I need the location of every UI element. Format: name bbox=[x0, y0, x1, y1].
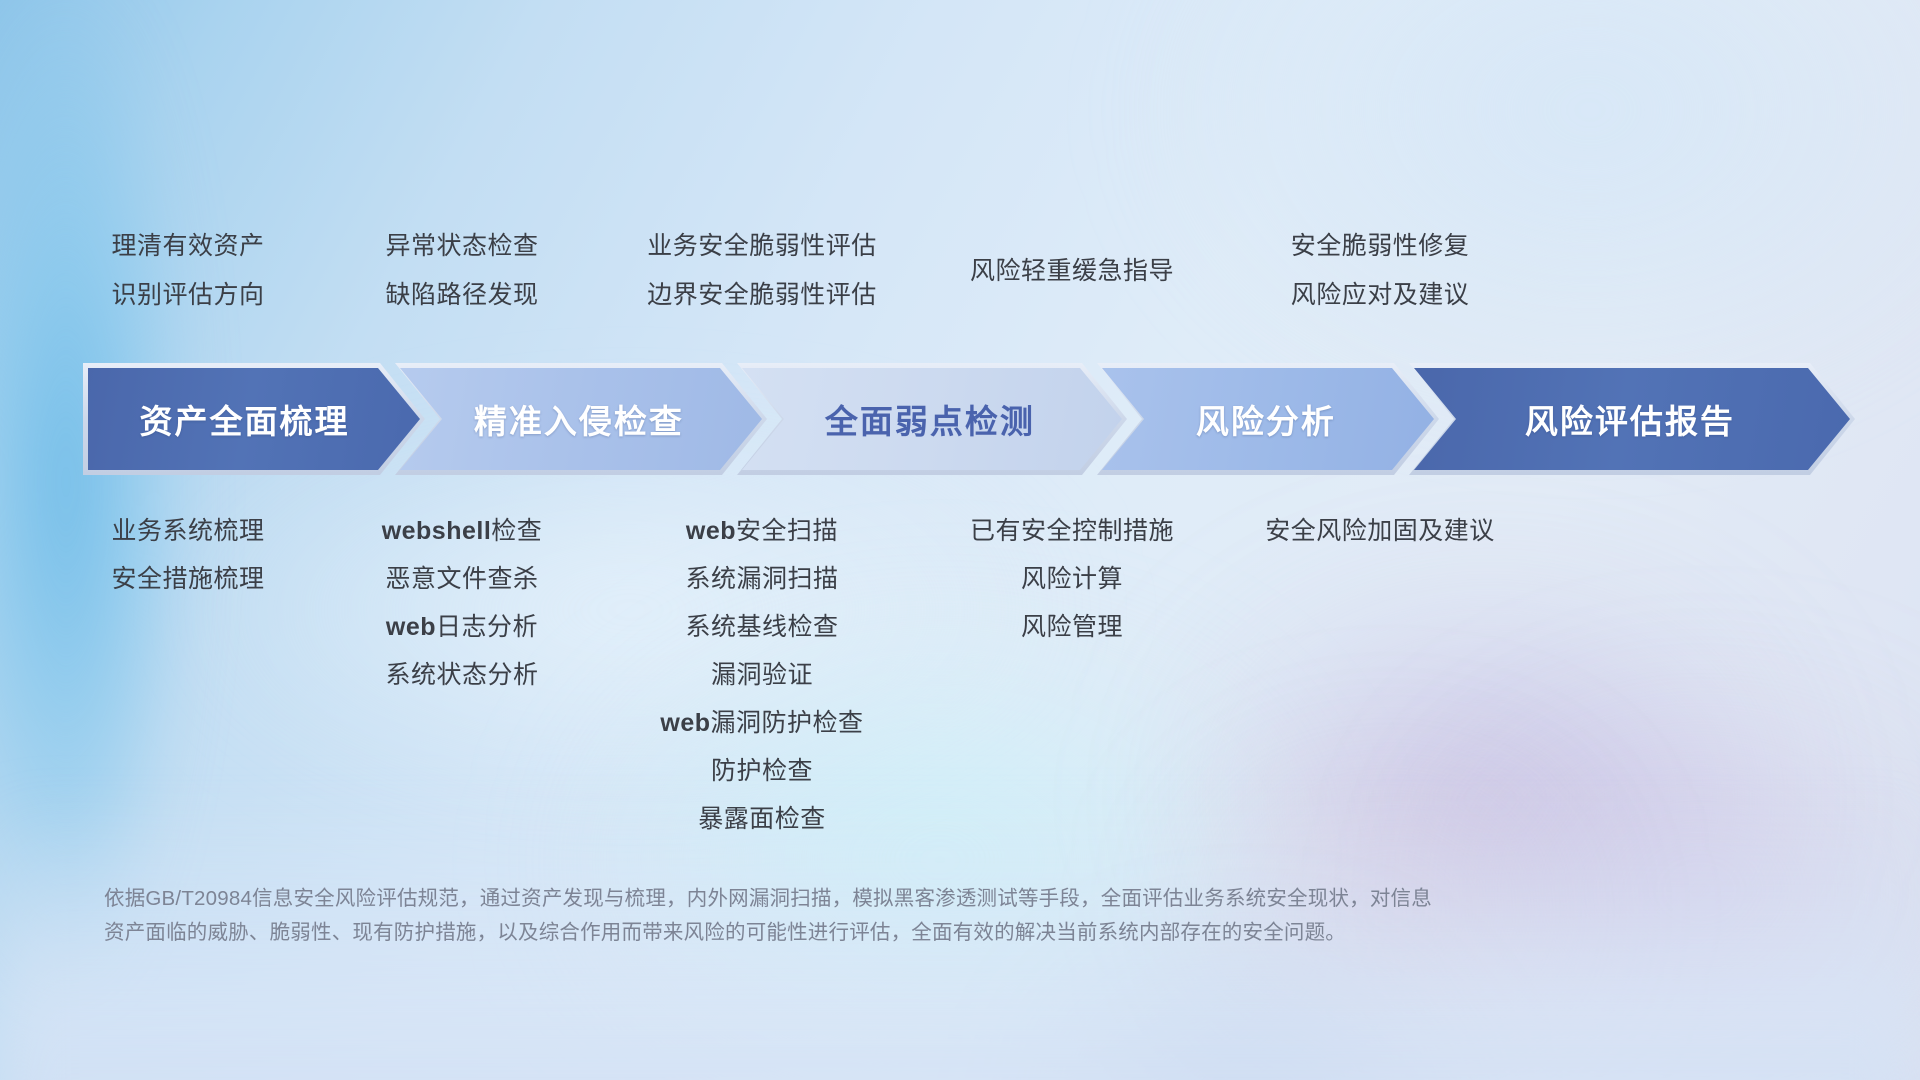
bottom-item: 暴露面检查 bbox=[502, 807, 1022, 832]
footer-description: 依据GB/T20984信息安全风险评估规范，通过资产发现与梳理，内外网漏洞扫描，… bbox=[104, 882, 1664, 950]
chevron-label-risk-report: 风险评估报告 bbox=[1525, 395, 1735, 443]
bottom-items-risk-report: 安全风险加固及建议 bbox=[1120, 519, 1640, 544]
footer-line-1: 依据GB/T20984信息安全风险评估规范，通过资产发现与梳理，内外网漏洞扫描，… bbox=[104, 882, 1664, 916]
bottom-item-text: 漏洞防护检查 bbox=[711, 709, 864, 737]
chevron-segment-fill-risk-report[interactable]: 风险评估报告 bbox=[1414, 368, 1850, 470]
chevron-label-risk-analysis: 风险分析 bbox=[1196, 395, 1336, 443]
bottom-item: 安全风险加固及建议 bbox=[1120, 519, 1640, 544]
chevron-label-weakness-detection: 全面弱点检测 bbox=[825, 395, 1035, 443]
chevron-label-intrusion-check: 精准入侵检查 bbox=[474, 395, 684, 443]
bottom-item-prefix: webshell bbox=[382, 517, 492, 545]
bottom-item-prefix: web bbox=[386, 613, 436, 641]
chevron-segment-fill-weakness-detection[interactable]: 全面弱点检测 bbox=[742, 368, 1122, 470]
bottom-item: web漏洞防护检查 bbox=[502, 711, 1022, 736]
footer-line-2: 资产面临的威胁、脆弱性、现有防护措施，以及综合作用而带来风险的可能性进行评估，全… bbox=[104, 916, 1664, 950]
bottom-item: 风险管理 bbox=[812, 615, 1332, 640]
top-item: 风险应对及建议 bbox=[1120, 283, 1640, 308]
chevron-segment-fill-asset-inventory[interactable]: 资产全面梳理 bbox=[88, 368, 420, 470]
process-diagram: 理清有效资产识别评估方向异常状态检查缺陷路径发现业务安全脆弱性评估边界安全脆弱性… bbox=[0, 0, 1920, 1080]
top-items-risk-report: 安全脆弱性修复风险应对及建议 bbox=[1120, 234, 1640, 308]
chevron-segment-fill-intrusion-check[interactable]: 精准入侵检查 bbox=[400, 368, 762, 470]
bottom-item: 防护检查 bbox=[502, 759, 1022, 784]
bottom-item: 风险计算 bbox=[812, 567, 1332, 592]
bottom-item: 漏洞验证 bbox=[502, 663, 1022, 688]
chevron-label-asset-inventory: 资产全面梳理 bbox=[140, 395, 350, 443]
chevron-segment-fill-risk-analysis[interactable]: 风险分析 bbox=[1102, 368, 1434, 470]
top-item: 边界安全脆弱性评估 bbox=[502, 283, 1022, 308]
top-item: 业务安全脆弱性评估 bbox=[502, 234, 1022, 259]
bottom-item-prefix: web bbox=[686, 517, 736, 545]
bottom-item-prefix: web bbox=[660, 709, 710, 737]
top-item: 安全脆弱性修复 bbox=[1120, 234, 1640, 259]
chevron-band: 资产全面梳理精准入侵检查全面弱点检测风险分析风险评估报告 bbox=[0, 368, 1920, 470]
